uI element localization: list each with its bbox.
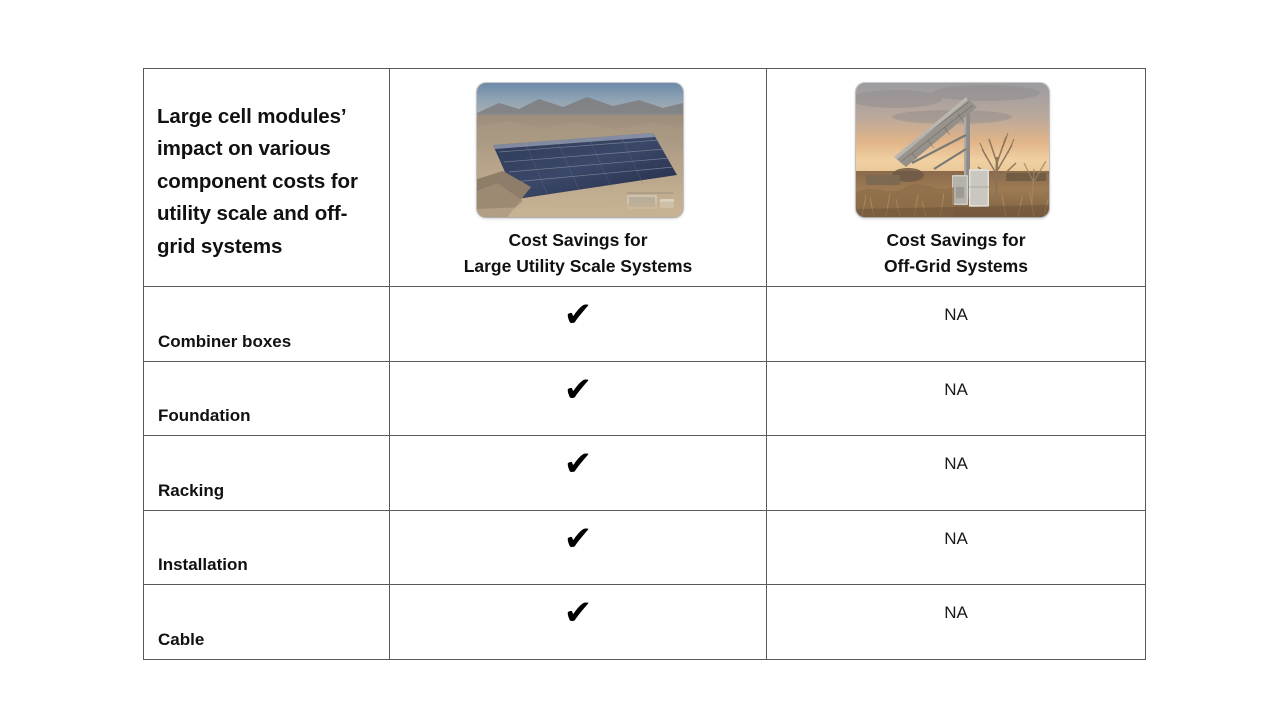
utility-scale-caption-line1: Cost Savings for: [390, 228, 766, 254]
off-grid-caption-line2: Off-Grid Systems: [767, 254, 1145, 280]
table-row: Racking ✔ NA: [144, 436, 1146, 511]
off-grid-caption-line1: Cost Savings for: [767, 228, 1145, 254]
row-label-racking: Racking: [144, 436, 390, 511]
off-grid-solar-tracker-illustration: [856, 83, 1049, 217]
utility-scale-caption: Cost Savings for Large Utility Scale Sys…: [390, 228, 766, 280]
matrix-title-cell: Large cell modules’ impact on various co…: [144, 69, 390, 287]
row-label-installation: Installation: [144, 510, 390, 585]
cell-cable-utility: ✔: [390, 585, 767, 660]
utility-scale-solar-farm-photo: [477, 83, 683, 217]
cell-racking-utility: ✔: [390, 436, 767, 511]
na-label: NA: [767, 604, 1145, 621]
column-header-utility-scale: Cost Savings for Large Utility Scale Sys…: [390, 69, 767, 287]
utility-scale-caption-line2: Large Utility Scale Systems: [390, 254, 766, 280]
table-row: Cable ✔ NA: [144, 585, 1146, 660]
cell-installation-utility: ✔: [390, 510, 767, 585]
column-header-off-grid: Cost Savings for Off-Grid Systems: [767, 69, 1146, 287]
row-label-text: Installation: [158, 555, 248, 575]
check-icon: ✔: [390, 522, 766, 556]
row-label-text: Racking: [158, 481, 224, 501]
table-row: Foundation ✔ NA: [144, 361, 1146, 436]
cell-cable-offgrid: NA: [767, 585, 1146, 660]
row-label-cable: Cable: [144, 585, 390, 660]
utility-scale-solar-farm-illustration: [477, 83, 683, 217]
check-icon: ✔: [390, 298, 766, 332]
cell-racking-offgrid: NA: [767, 436, 1146, 511]
component-cost-matrix-table: Large cell modules’ impact on various co…: [143, 68, 1146, 660]
row-label-text: Combiner boxes: [158, 332, 291, 352]
na-label: NA: [767, 381, 1145, 398]
check-icon: ✔: [390, 447, 766, 481]
page-title: Large cell modules’ impact on various co…: [157, 101, 381, 263]
cell-foundation-offgrid: NA: [767, 361, 1146, 436]
cell-combiner-boxes-utility: ✔: [390, 287, 767, 362]
na-label: NA: [767, 306, 1145, 323]
table-header-row: Large cell modules’ impact on various co…: [144, 69, 1146, 287]
row-label-text: Foundation: [158, 406, 251, 426]
cell-foundation-utility: ✔: [390, 361, 767, 436]
check-icon: ✔: [390, 596, 766, 630]
cell-installation-offgrid: NA: [767, 510, 1146, 585]
cell-combiner-boxes-offgrid: NA: [767, 287, 1146, 362]
off-grid-caption: Cost Savings for Off-Grid Systems: [767, 228, 1145, 280]
row-label-foundation: Foundation: [144, 361, 390, 436]
check-icon: ✔: [390, 373, 766, 407]
table-row: Combiner boxes ✔ NA: [144, 287, 1146, 362]
off-grid-solar-tracker-photo: [856, 83, 1049, 217]
table-row: Installation ✔ NA: [144, 510, 1146, 585]
row-label-text: Cable: [158, 630, 204, 650]
slide-canvas: Large cell modules’ impact on various co…: [0, 0, 1280, 720]
na-label: NA: [767, 530, 1145, 547]
na-label: NA: [767, 455, 1145, 472]
row-label-combiner-boxes: Combiner boxes: [144, 287, 390, 362]
